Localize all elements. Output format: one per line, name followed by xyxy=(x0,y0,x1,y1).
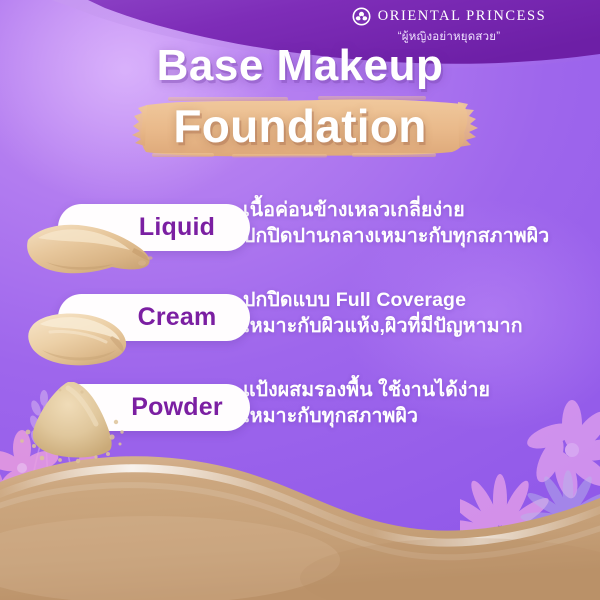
loose-powder-pile-icon xyxy=(12,374,142,471)
poster-canvas: ORIENTAL PRINCESS “ผู้หญิงอย่าหยุดสวย” B… xyxy=(0,0,600,600)
cream-foundation-dollop-icon xyxy=(20,306,140,377)
desc-cream-line2: เหมาะกับผิวแห้ง,ผิวที่มีปัญหามาก xyxy=(243,313,598,339)
list-item-cream[interactable]: Cream xyxy=(0,286,600,376)
desc-liquid-line2: ปกปิดปานกลางเหมาะกับทุกสภาพผิว xyxy=(243,223,598,249)
brush-stroke-banner: Foundation xyxy=(0,95,600,161)
desc-liquid: เนื้อค่อนข้างเหลวเกลี่ยง่าย ปกปิดปานกลาง… xyxy=(243,197,598,249)
title-base-makeup: Base Makeup xyxy=(0,44,600,88)
desc-liquid-line1: เนื้อค่อนข้างเหลวเกลี่ยง่าย xyxy=(243,197,598,223)
headline-block: Base Makeup xyxy=(0,44,600,161)
liquid-foundation-smear-icon xyxy=(22,218,157,289)
desc-powder-line1: แป้งผสมรองพื้น ใช้งานได้ง่าย xyxy=(243,377,598,403)
desc-cream-line1: ปกปิดแบบ Full Coverage xyxy=(243,287,598,313)
oriental-princess-emblem-icon xyxy=(352,7,371,26)
brand-name: ORIENTAL PRINCESS xyxy=(378,8,546,25)
title-foundation: Foundation xyxy=(0,99,600,153)
list-item-liquid[interactable]: Liquid xyxy=(0,196,600,286)
desc-cream: ปกปิดแบบ Full Coverage เหมาะกับผิวแห้ง,ผ… xyxy=(243,287,598,339)
